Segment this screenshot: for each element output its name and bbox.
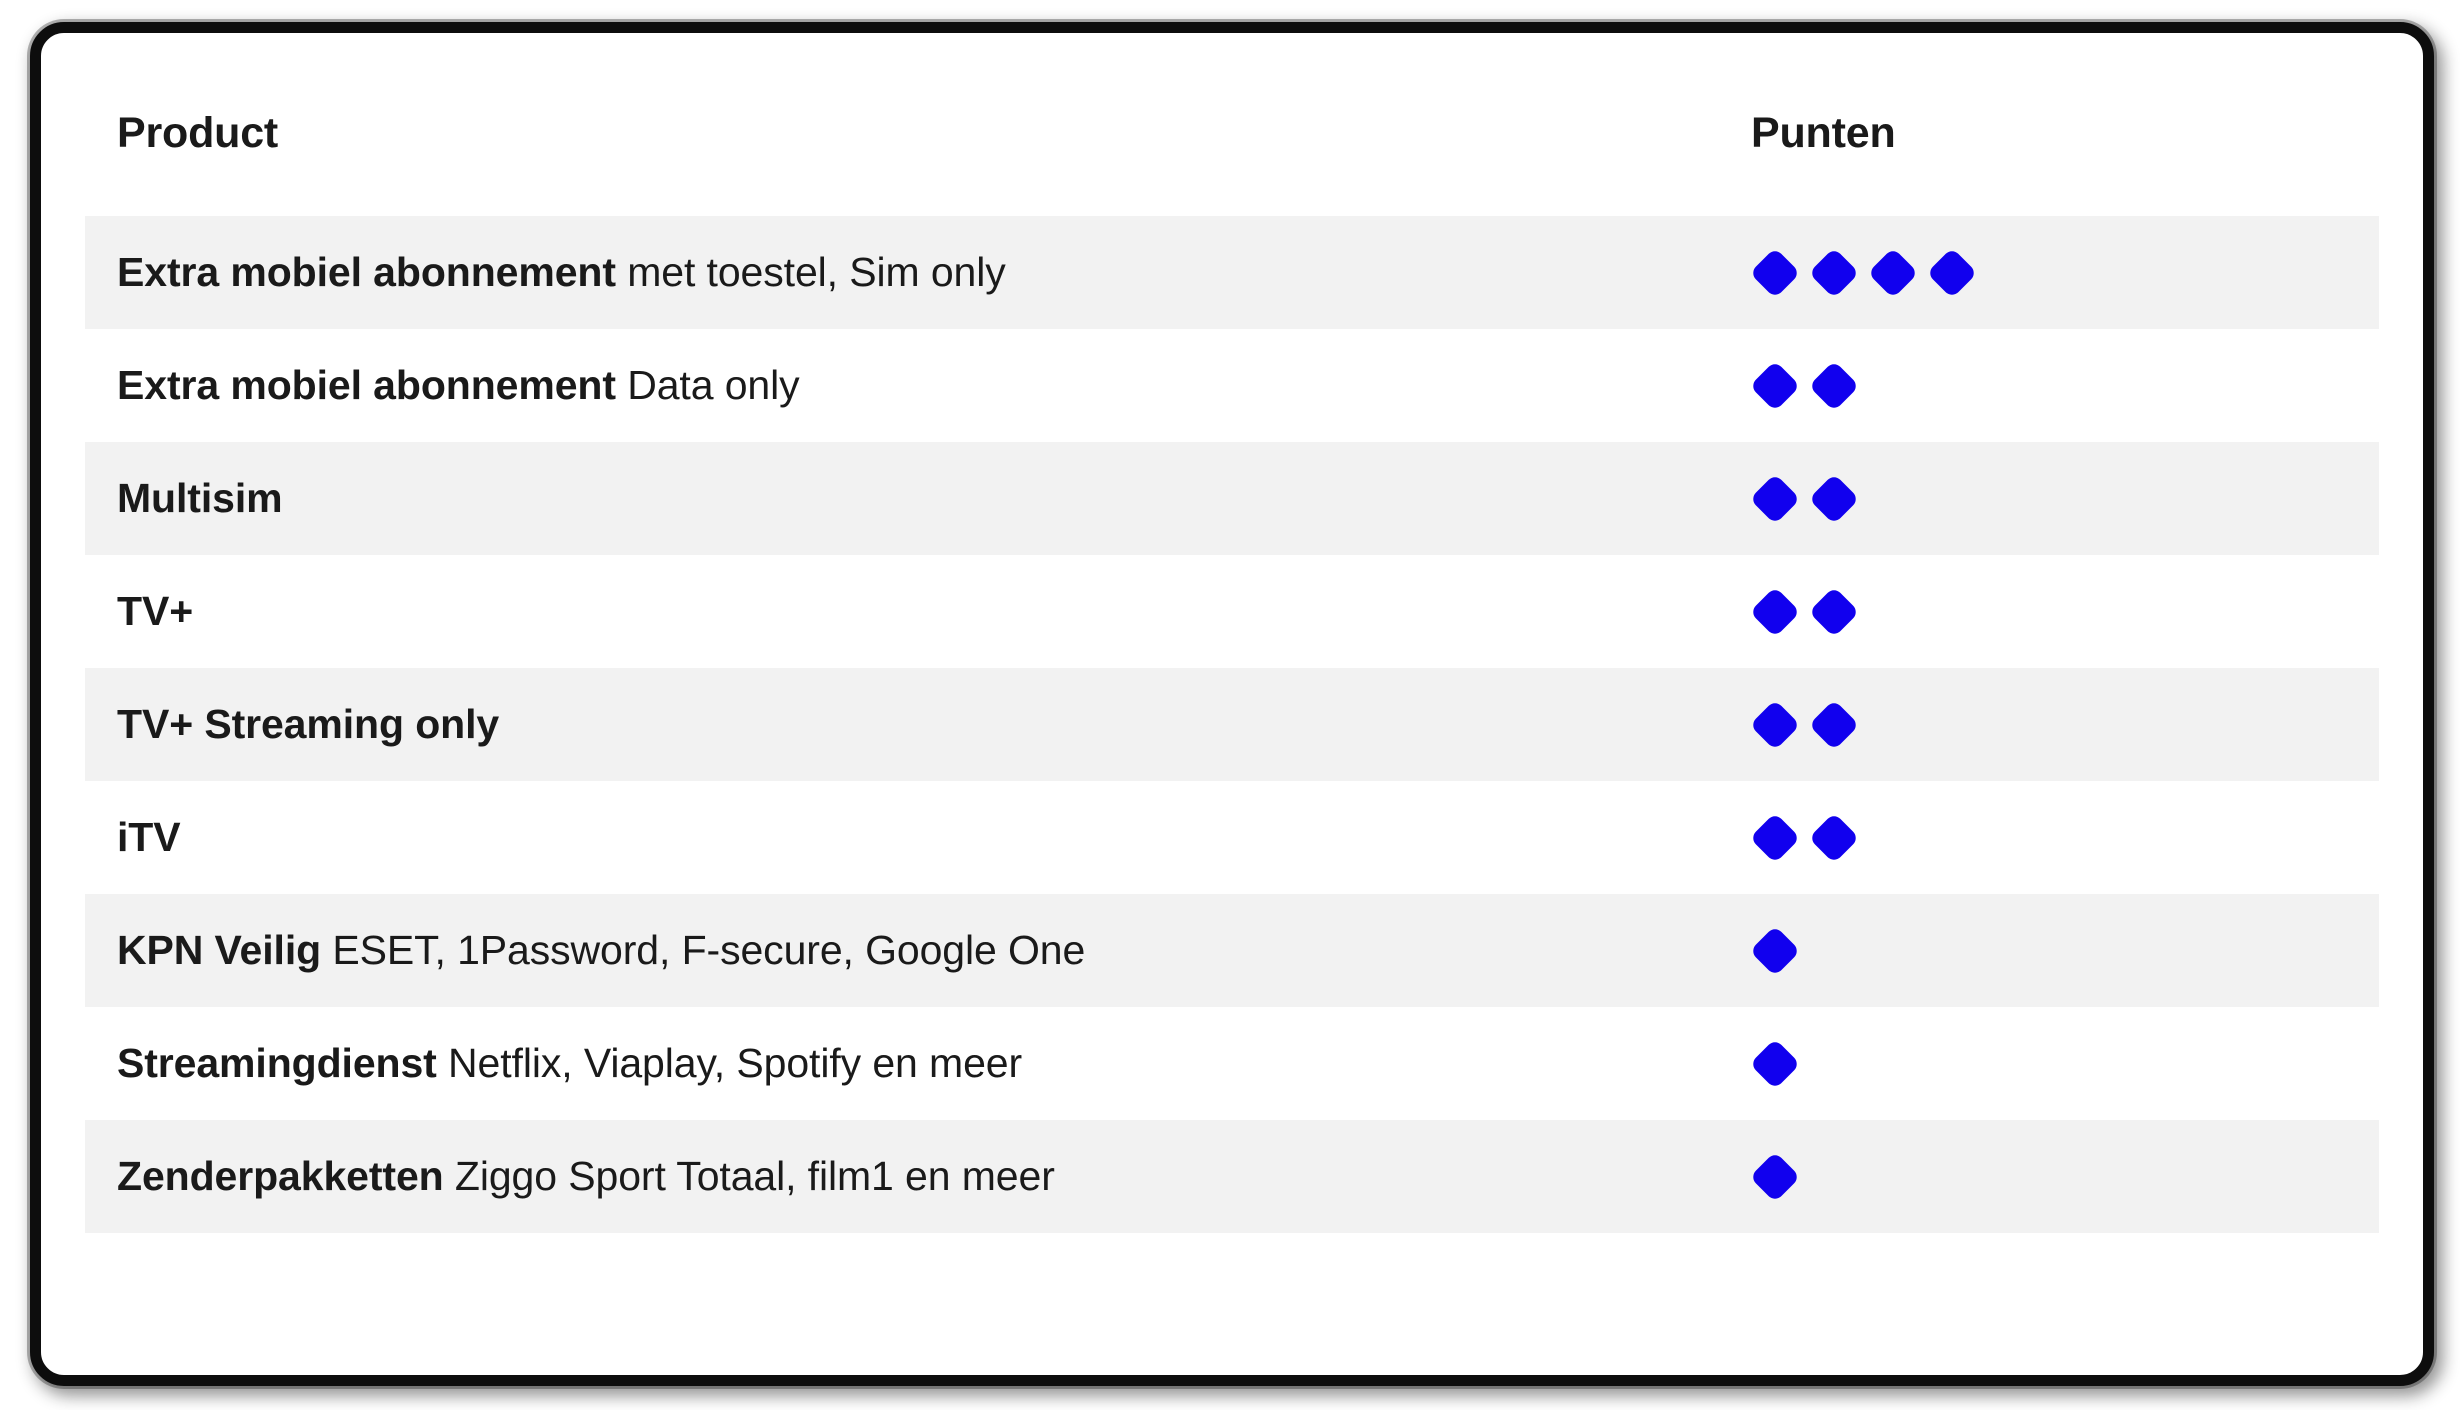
table-header: Product Punten (85, 33, 2379, 216)
points-cell (1715, 329, 2379, 442)
product-name: iTV (117, 814, 180, 860)
product-cell: TV+ (85, 555, 1715, 668)
product-name: TV+ (117, 588, 193, 634)
point-diamond-icon (1868, 247, 1919, 298)
product-cell: iTV (85, 781, 1715, 894)
table-row: Zenderpakketten Ziggo Sport Totaal, film… (85, 1120, 2379, 1233)
table-body: Extra mobiel abonnement met toestel, Sim… (85, 216, 2379, 1233)
point-diamond-icon (1750, 1151, 1801, 1202)
table-header-row: Product Punten (85, 33, 2379, 216)
card-content: Product Punten Extra mobiel abonnement m… (41, 33, 2423, 1375)
points-cell (1715, 1120, 2379, 1233)
points-cell (1715, 1007, 2379, 1120)
product-description: Data only (616, 362, 800, 408)
table-row: KPN Veilig ESET, 1Password, F-secure, Go… (85, 894, 2379, 1007)
point-diamond-icon (1750, 812, 1801, 863)
table-row: TV+ (85, 555, 2379, 668)
point-diamond-icon (1809, 473, 1860, 524)
product-cell: KPN Veilig ESET, 1Password, F-secure, Go… (85, 894, 1715, 1007)
point-diamond-icon (1809, 360, 1860, 411)
point-diamond-icon (1750, 925, 1801, 976)
product-cell: Streamingdienst Netflix, Viaplay, Spotif… (85, 1007, 1715, 1120)
point-diamond-icon (1750, 699, 1801, 750)
point-diamond-icon (1750, 247, 1801, 298)
points-cell (1715, 668, 2379, 781)
table-row: TV+ Streaming only (85, 668, 2379, 781)
product-cell: Extra mobiel abonnement Data only (85, 329, 1715, 442)
points-rating (1751, 701, 2379, 749)
point-diamond-icon (1927, 247, 1978, 298)
table-row: Extra mobiel abonnement met toestel, Sim… (85, 216, 2379, 329)
point-diamond-icon (1809, 812, 1860, 863)
points-rating (1751, 249, 2379, 297)
points-cell (1715, 442, 2379, 555)
points-cell (1715, 216, 2379, 329)
product-name: Multisim (117, 475, 282, 521)
product-description: Netflix, Viaplay, Spotify en meer (437, 1040, 1022, 1086)
points-rating (1751, 814, 2379, 862)
points-rating (1751, 362, 2379, 410)
product-cell: Extra mobiel abonnement met toestel, Sim… (85, 216, 1715, 329)
points-rating (1751, 475, 2379, 523)
point-diamond-icon (1809, 586, 1860, 637)
product-name: Zenderpakketten (117, 1153, 444, 1199)
point-diamond-icon (1809, 699, 1860, 750)
table-row: Extra mobiel abonnement Data only (85, 329, 2379, 442)
point-diamond-icon (1750, 360, 1801, 411)
product-name: Extra mobiel abonnement (117, 249, 616, 295)
point-diamond-icon (1809, 247, 1860, 298)
product-description: Ziggo Sport Totaal, film1 en meer (444, 1153, 1055, 1199)
points-cell (1715, 781, 2379, 894)
points-rating (1751, 588, 2379, 636)
table-row: iTV (85, 781, 2379, 894)
product-cell: Zenderpakketten Ziggo Sport Totaal, film… (85, 1120, 1715, 1233)
point-diamond-icon (1750, 586, 1801, 637)
points-rating (1751, 927, 2379, 975)
product-cell: TV+ Streaming only (85, 668, 1715, 781)
product-points-table: Product Punten Extra mobiel abonnement m… (85, 33, 2379, 1233)
product-name: KPN Veilig (117, 927, 321, 973)
points-rating (1751, 1153, 2379, 1201)
product-description: met toestel, Sim only (616, 249, 1006, 295)
product-description: ESET, 1Password, F-secure, Google One (321, 927, 1085, 973)
points-rating (1751, 1040, 2379, 1088)
point-diamond-icon (1750, 1038, 1801, 1089)
points-cell (1715, 894, 2379, 1007)
column-header-punten: Punten (1715, 33, 2379, 216)
product-cell: Multisim (85, 442, 1715, 555)
table-row: Multisim (85, 442, 2379, 555)
column-header-product: Product (85, 33, 1715, 216)
product-name: Streamingdienst (117, 1040, 437, 1086)
product-points-card: Product Punten Extra mobiel abonnement m… (30, 22, 2434, 1386)
screen-root: Product Punten Extra mobiel abonnement m… (0, 0, 2460, 1410)
product-name: TV+ Streaming only (117, 701, 499, 747)
product-name: Extra mobiel abonnement (117, 362, 616, 408)
table-row: Streamingdienst Netflix, Viaplay, Spotif… (85, 1007, 2379, 1120)
point-diamond-icon (1750, 473, 1801, 524)
points-cell (1715, 555, 2379, 668)
